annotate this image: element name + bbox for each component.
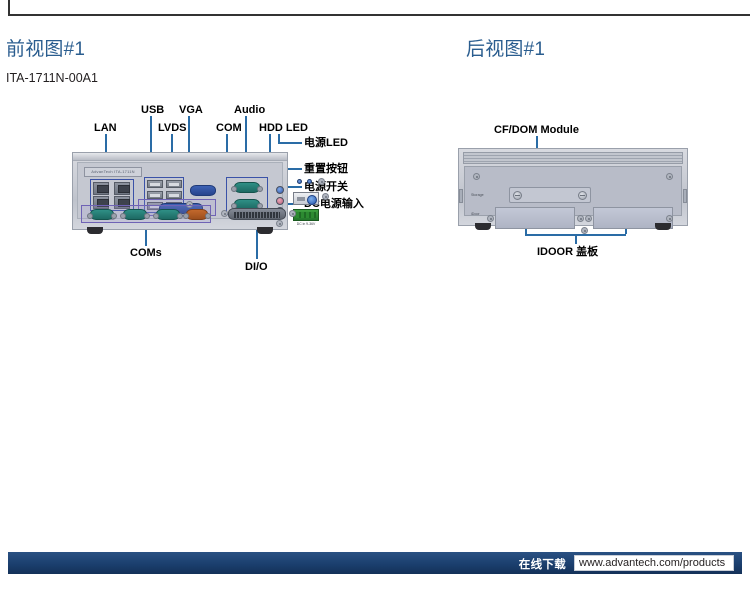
chassis-foot-left bbox=[87, 227, 103, 234]
callout-lan: LAN bbox=[94, 122, 117, 134]
idoor-screw-2 bbox=[577, 215, 584, 222]
callout-coms: COMs bbox=[130, 247, 162, 259]
model-code: ITA-1711N-00A1 bbox=[6, 71, 98, 85]
leader-com bbox=[226, 134, 228, 154]
com-bank-port-3 bbox=[156, 209, 180, 220]
rear-screw-top-right bbox=[666, 173, 673, 180]
screw-icon bbox=[205, 213, 211, 219]
callout-com: COM bbox=[216, 122, 242, 134]
lan-port-1 bbox=[93, 182, 109, 195]
dio-connector bbox=[228, 208, 286, 220]
rear-panel-illustration: Storage iDoor bbox=[458, 148, 688, 226]
lan-port-2 bbox=[114, 182, 130, 195]
callout-cf-dom-module: CF/DOM Module bbox=[494, 124, 579, 136]
page-root: 前视图#1 ITA-1711N-00A1 后视图#1 LAN USB LVDS … bbox=[0, 0, 750, 591]
idoor-screw-3 bbox=[585, 215, 592, 222]
chassis-foot-right bbox=[257, 227, 273, 234]
brand-plate: AdvanTech ITA-1711N bbox=[84, 167, 142, 177]
leader-idoor-stem bbox=[575, 234, 577, 244]
leader-reset-button bbox=[286, 168, 302, 170]
panel-screw-audio bbox=[276, 220, 283, 227]
footer-url-field[interactable]: www.advantech.com/products bbox=[574, 555, 734, 571]
com-bank-port-2 bbox=[123, 209, 147, 220]
idoor-screw-1 bbox=[487, 215, 494, 222]
leader-power-led-stem bbox=[278, 134, 280, 142]
callout-power-led: 电源LED bbox=[304, 137, 348, 149]
screw-icon bbox=[144, 213, 150, 219]
rear-foot-right bbox=[655, 223, 671, 230]
front-panel-illustration: AdvanTech ITA-1711N bbox=[72, 152, 288, 230]
screw-icon bbox=[87, 213, 93, 219]
bay-screw-right bbox=[578, 191, 587, 200]
screw-icon bbox=[257, 186, 263, 192]
screw-icon bbox=[120, 213, 126, 219]
audio-jack-line-in bbox=[276, 186, 284, 194]
power-switch-control bbox=[293, 192, 319, 205]
usb-port-4 bbox=[166, 191, 182, 199]
idoor-screw-center bbox=[581, 227, 588, 234]
rear-foot-left bbox=[475, 223, 491, 230]
storage-marking: Storage bbox=[471, 193, 484, 197]
top-border-vertical bbox=[8, 0, 10, 16]
heatsink-fins bbox=[463, 152, 683, 164]
screw-icon bbox=[231, 186, 237, 192]
callout-lvds: LVDS bbox=[158, 122, 187, 134]
leader-vga bbox=[188, 116, 190, 154]
power-led-indicator bbox=[307, 179, 312, 184]
callout-vga: VGA bbox=[179, 104, 203, 116]
vga-connector bbox=[190, 185, 216, 196]
com-port-1 bbox=[234, 182, 260, 193]
leader-lan bbox=[105, 134, 107, 154]
leader-coms bbox=[145, 228, 147, 246]
rear-screw-top-left bbox=[473, 173, 480, 180]
idoor-marking: iDoor bbox=[471, 212, 480, 216]
dc-power-input-connector: DC in 9-36V bbox=[293, 209, 319, 221]
leader-power-switch bbox=[286, 186, 302, 188]
panel-screw-dio-left bbox=[221, 210, 228, 217]
usb-port-3 bbox=[147, 191, 163, 199]
front-view-title: 前视图#1 bbox=[6, 34, 85, 61]
top-border-horizontal bbox=[8, 14, 750, 16]
callout-usb: USB bbox=[141, 104, 164, 116]
usb-port-1 bbox=[147, 180, 163, 188]
rear-view-title: 后视图#1 bbox=[466, 34, 545, 61]
leader-lvds bbox=[171, 134, 173, 154]
usb-port-2 bbox=[166, 180, 182, 188]
rear-panel-face: Storage iDoor bbox=[464, 166, 682, 216]
screw-icon bbox=[183, 213, 189, 219]
side-tab-left bbox=[459, 189, 463, 203]
com-bank-port-1 bbox=[90, 209, 114, 220]
leader-power-led bbox=[278, 142, 302, 144]
idoor-cover-left bbox=[495, 207, 575, 229]
callout-idoor-cover: IDOOR 盖板 bbox=[537, 246, 598, 258]
leader-usb bbox=[150, 116, 152, 154]
audio-jack-mic bbox=[276, 197, 284, 205]
chassis-top-edge bbox=[73, 153, 287, 161]
com-bank-port-4 bbox=[186, 209, 208, 220]
bay-screw-left bbox=[513, 191, 522, 200]
screw-icon bbox=[153, 213, 159, 219]
panel-screw-power bbox=[322, 193, 329, 200]
cf-dom-storage-bay bbox=[509, 187, 591, 203]
screw-icon bbox=[111, 213, 117, 219]
panel-screw-dio-right bbox=[289, 210, 296, 217]
hdd-led-indicator bbox=[297, 179, 302, 184]
reset-button-hole bbox=[318, 178, 325, 185]
side-tab-right bbox=[683, 189, 687, 203]
callout-dio: DI/O bbox=[245, 261, 268, 273]
callout-audio: Audio bbox=[234, 104, 265, 116]
dc-in-marking: DC in 9-36V bbox=[297, 222, 315, 226]
callout-reset-button: 重置按钮 bbox=[304, 163, 348, 175]
footer-download-label: 在线下载 bbox=[519, 556, 566, 572]
coms-bank-group bbox=[81, 205, 211, 223]
callout-hdd-led: HDD LED bbox=[259, 122, 308, 134]
idoor-screw-4 bbox=[666, 215, 673, 222]
